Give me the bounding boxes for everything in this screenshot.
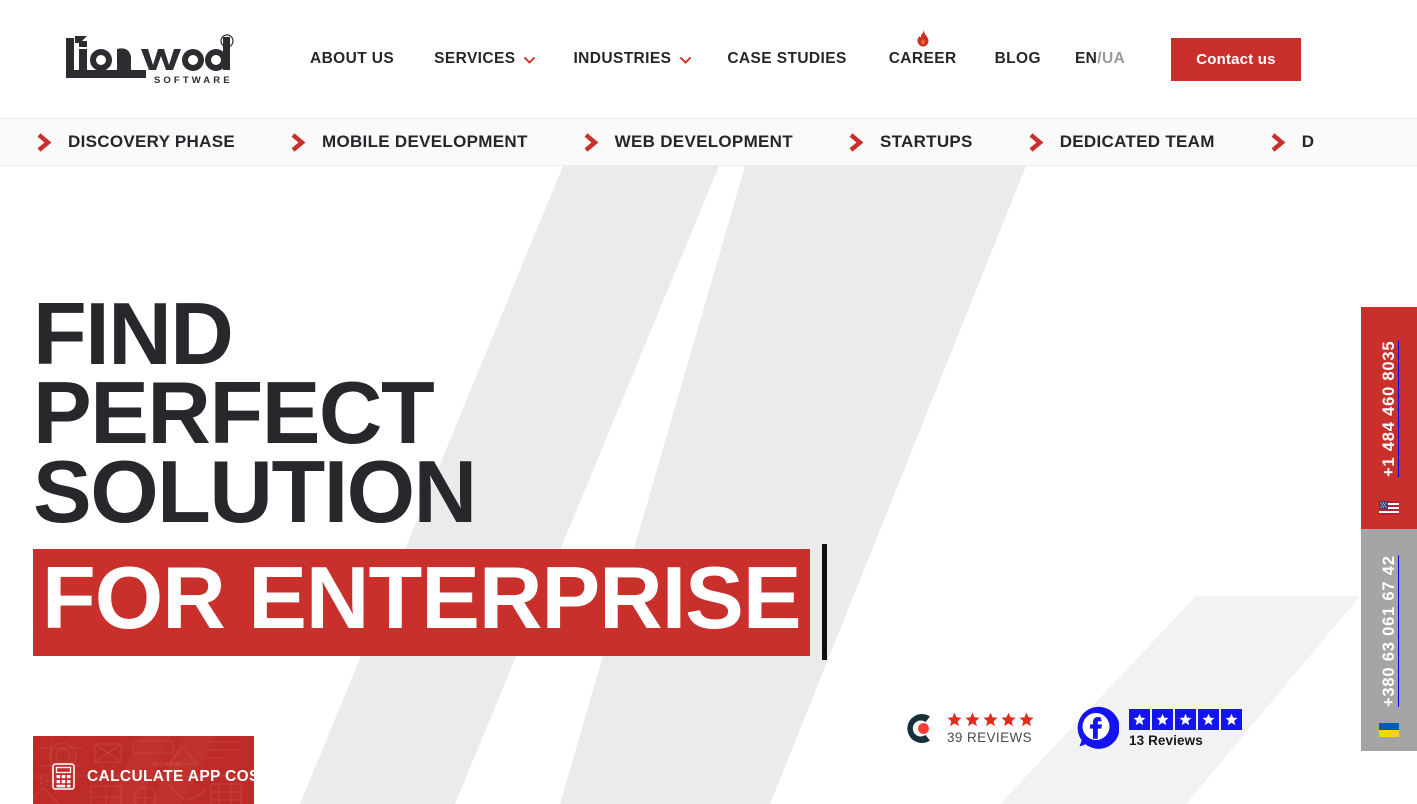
goodfirms-badge-body: 13 Reviews [1129,709,1242,748]
ticker-item-next-partial[interactable]: D [1270,132,1315,152]
nav-label: INDUSTRIES [573,50,671,68]
nav-label: CASE STUDIES [727,50,846,68]
star-tile-icon [1221,709,1242,730]
clutch-review-badge[interactable]: 39 REVIEWS [900,710,1034,747]
nav-label: BLOG [995,50,1041,68]
site-header: ® SOFTWARE ABOUT US SERVICES INDUSTRIES [0,0,1417,118]
star-rating-goodfirms [1129,709,1242,730]
calculator-icon [52,763,75,790]
ticker-item-startups[interactable]: STARTUPS [848,132,973,152]
nav-label: CAREER [889,50,957,68]
flame-icon [915,29,931,47]
star-tile-icon [1152,709,1173,730]
star-icon [965,712,980,727]
ticker-label: DISCOVERY PHASE [68,132,235,152]
hero-highlight-row: FOR ENTERPRISE [33,544,1417,660]
nav-item-case-studies[interactable]: CASE STUDIES [727,50,846,68]
nav-item-industries[interactable]: INDUSTRIES [573,50,691,68]
hero-title-line-3: SOLUTION [33,453,1417,532]
goodfirms-reviews-count: 13 Reviews [1129,733,1242,748]
phone-number-us: +1 484 460 8035 [1380,325,1399,493]
ticker-label: STARTUPS [880,132,973,152]
clutch-badge-body: 39 REVIEWS [947,712,1034,745]
main-navigation: ABOUT US SERVICES INDUSTRIES CASE STUDIE… [310,38,1417,81]
star-tile-icon [1129,709,1150,730]
nav-item-blog[interactable]: BLOG [995,50,1041,68]
clutch-logo-icon [900,710,937,747]
us-flag-icon [1379,501,1399,515]
star-rating-clutch [947,712,1034,727]
goodfirms-review-badge[interactable]: 13 Reviews [1073,705,1242,751]
chevron-right-icon [1270,133,1286,152]
chevron-right-icon [583,133,599,152]
goodfirms-logo-icon [1073,705,1119,751]
ticker-label: D [1302,132,1315,152]
ticker-item-discovery-phase[interactable]: DISCOVERY PHASE [36,132,235,152]
nav-label: ABOUT US [310,50,394,68]
hero-title-line-1: FIND [33,295,1417,374]
logo-container[interactable]: ® SOFTWARE [0,33,310,85]
nav-item-services[interactable]: SERVICES [434,50,535,68]
nav-item-career[interactable]: CAREER [889,50,957,68]
ua-flag-icon [1379,723,1399,737]
language-en[interactable]: EN [1075,50,1097,68]
phone-number-ua: +380 63 061 67 42 [1380,547,1399,715]
chevron-right-icon [1028,133,1044,152]
language-switcher[interactable]: EN / UA [1075,50,1125,68]
clutch-reviews-count: 39 REVIEWS [947,730,1034,745]
star-icon [983,712,998,727]
star-tile-icon [1175,709,1196,730]
hero-title-line-2: PERFECT [33,374,1417,453]
page-title: FIND PERFECT SOLUTION [33,166,1417,531]
language-ua[interactable]: UA [1102,50,1125,68]
star-tile-icon [1198,709,1219,730]
star-icon [1019,712,1034,727]
phone-tab-ua[interactable]: +380 63 061 67 42 [1361,529,1417,751]
svg-text:®: ® [225,39,230,46]
review-badges: 39 REVIEWS 13 Reviews [900,705,1242,751]
chevron-down-icon [524,57,535,64]
ticker-item-dedicated-team[interactable]: DEDICATED TEAM [1028,132,1215,152]
nav-label: SERVICES [434,50,515,68]
lionwood-logo[interactable]: ® SOFTWARE [60,33,235,85]
svg-text:SOFTWARE: SOFTWARE [154,75,233,85]
calculate-app-cost-label: CALCULATE APP COST [87,768,254,786]
chevron-right-icon [36,133,52,152]
contact-us-button[interactable]: Contact us [1171,38,1301,81]
ticker-item-web-development[interactable]: WEB DEVELOPMENT [583,132,793,152]
chevron-down-icon [680,57,691,64]
typing-caret [822,544,827,660]
chevron-right-icon [290,133,306,152]
chevron-right-icon [848,133,864,152]
ticker-label: WEB DEVELOPMENT [615,132,793,152]
star-icon [1001,712,1016,727]
hero-highlight-text: FOR ENTERPRISE [33,549,810,656]
ticker-label: MOBILE DEVELOPMENT [322,132,528,152]
star-icon [947,712,962,727]
ticker-label: DEDICATED TEAM [1060,132,1215,152]
calculate-app-cost-button[interactable]: f(x)=ax²+b ∑ x·dy [33,736,254,804]
floating-contact-tabs: +1 484 460 8035 +380 63 061 67 42 [1361,307,1417,751]
services-ticker-bar[interactable]: DISCOVERY PHASE MOBILE DEVELOPMENT WEB D… [0,118,1417,166]
nav-item-about-us[interactable]: ABOUT US [310,50,394,68]
ticker-item-mobile-development[interactable]: MOBILE DEVELOPMENT [290,132,528,152]
phone-tab-us[interactable]: +1 484 460 8035 [1361,307,1417,529]
